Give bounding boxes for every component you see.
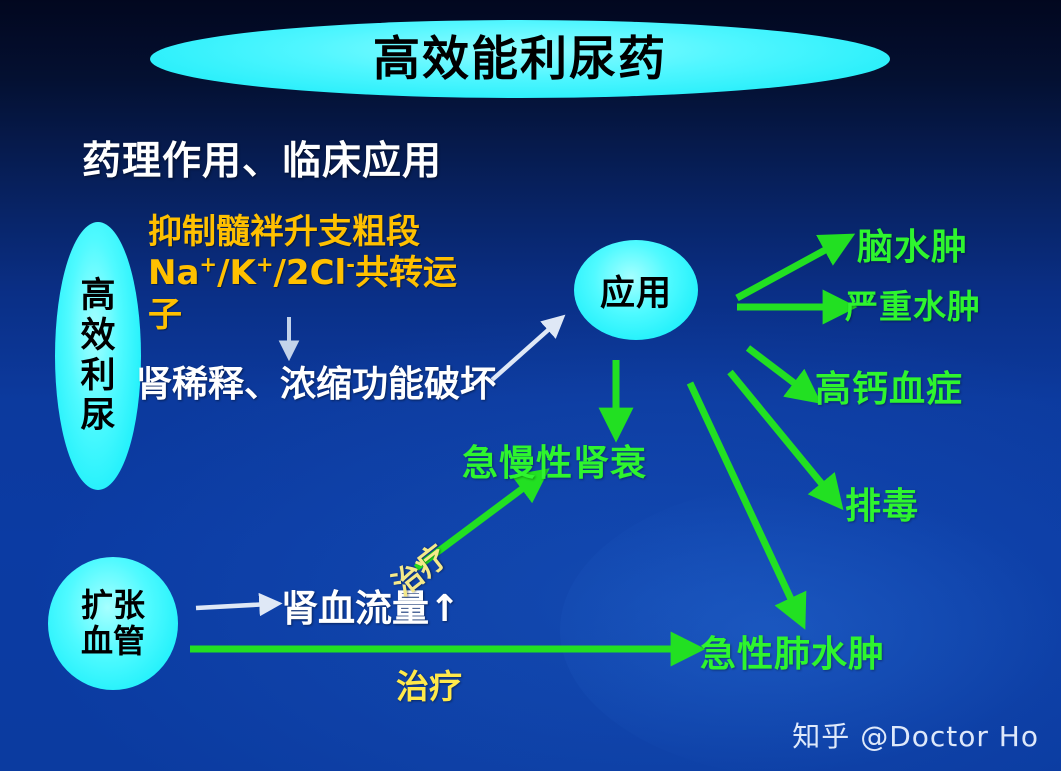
outcome-cerebral-edema: 脑水肿: [857, 218, 968, 270]
page-title: 高效能利尿药: [373, 36, 667, 83]
vasodilation-line-2: 血管: [81, 624, 145, 660]
mechanism-effect: 肾稀释、浓缩功能破坏: [136, 355, 496, 407]
application-label: 应用: [600, 265, 672, 316]
treat-label-horizontal: 治疗: [396, 660, 462, 708]
arrow-application-to-hypercalcemia: [748, 348, 806, 392]
mechanism-line-2: Na+/K+/2Cl-共转运: [148, 253, 528, 294]
outcome-detoxification: 排毒: [845, 477, 919, 529]
mechanism-line-1: 抑制髓袢升支粗段: [148, 212, 528, 253]
outcome-severe-edema: 严重水肿: [845, 280, 981, 328]
drug-class-char-1: 高: [80, 276, 115, 316]
outcome-hypercalcemia: 高钙血症: [815, 360, 963, 412]
subtitle: 药理作用、临床应用: [82, 130, 442, 186]
mechanism-text-block: 抑制髓袢升支粗段 Na+/K+/2Cl-共转运 子: [148, 212, 528, 336]
arrow-application-to-acute-pulmonary-edema: [690, 383, 797, 612]
arrow-vasodilation-to-rbf: [196, 604, 270, 608]
drug-class-char-2: 效: [80, 316, 115, 356]
node-application-ellipse: 应用: [574, 240, 698, 340]
arrow-application-to-cerebral-edema: [737, 243, 838, 298]
renal-blood-flow-label: 肾血流量↑: [281, 578, 460, 632]
drug-class-char-3: 利: [80, 356, 115, 396]
slide-canvas: 高效能利尿药 药理作用、临床应用 高 效 利 尿 抑制髓袢升支粗段 Na+/K+…: [0, 0, 1061, 771]
watermark: 知乎 @Doctor Ho: [792, 715, 1039, 755]
drug-class-char-4: 尿: [80, 396, 115, 436]
title-ellipse: 高效能利尿药: [150, 20, 890, 98]
outcome-acute-pulmonary-edema: 急性肺水肿: [700, 625, 885, 677]
node-drug-class-ellipse: 高 效 利 尿: [55, 222, 141, 490]
outcome-renal-failure: 急慢性肾衰: [462, 434, 647, 486]
mechanism-line-3: 子: [148, 295, 528, 336]
vasodilation-line-1: 扩张: [81, 588, 145, 624]
node-vasodilation-ellipse: 扩张 血管: [48, 557, 178, 690]
